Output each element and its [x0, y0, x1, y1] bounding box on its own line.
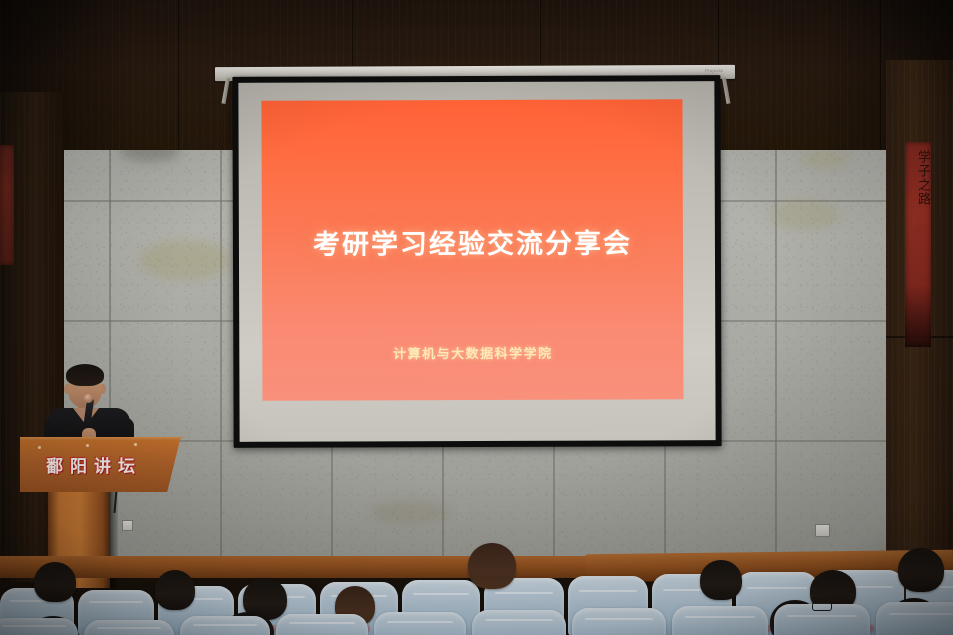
slide-subtitle: 计算机与大数据科学学院 — [262, 342, 683, 362]
audience-seat — [0, 618, 78, 635]
wall-outlet-plate — [815, 524, 830, 537]
eyeglasses-icon — [812, 602, 832, 611]
podium-screw — [86, 444, 89, 447]
projector-screen: 考研学习经验交流分享会 计算机与大数据科学学院 — [232, 75, 721, 448]
wall-scuff — [800, 150, 850, 168]
wall-scuff — [770, 200, 840, 230]
podium-screw — [134, 443, 137, 446]
audience-member-head — [898, 548, 944, 592]
audience-seat — [84, 620, 174, 635]
audience-member-head — [155, 570, 195, 610]
audience-area — [0, 540, 953, 635]
audience-member-head — [700, 560, 742, 600]
wall-banner-left — [0, 145, 14, 265]
lecture-hall-photo: 学子之路 Projecta 考研学习经验交流分享会 计算机与大数据科学学院 鄱阳… — [0, 0, 953, 635]
audience-seat — [276, 614, 368, 635]
audience-seat — [572, 608, 666, 635]
wall-banner-right: 学子之路 — [905, 142, 931, 347]
wood-seam — [880, 0, 881, 150]
banner-shadow — [905, 285, 931, 347]
projected-slide: 考研学习经验交流分享会 计算机与大数据科学学院 — [261, 99, 683, 400]
screen-surface: 考研学习经验交流分享会 计算机与大数据科学学院 — [238, 81, 715, 442]
speaker-hair — [66, 364, 104, 386]
audience-seat — [472, 610, 566, 635]
projector-brand-label: Projecta — [705, 68, 723, 73]
audience-seat — [876, 602, 953, 635]
podium-nameplate-text: 鄱阳讲坛 — [20, 452, 168, 477]
audience-seat — [374, 612, 466, 635]
audience-seat — [672, 606, 768, 635]
wall-scuff — [370, 500, 450, 524]
wall-outlet-plate — [122, 520, 133, 531]
audience-member-head — [34, 562, 76, 602]
wood-seam — [178, 0, 179, 150]
slide-title: 考研学习经验交流分享会 — [262, 221, 683, 261]
audience-seat — [180, 616, 270, 635]
audience-member-head — [468, 543, 516, 589]
podium-screw — [38, 446, 41, 449]
wall-scuff — [140, 240, 230, 280]
wall-banner-right-text: 学子之路 — [905, 150, 931, 206]
